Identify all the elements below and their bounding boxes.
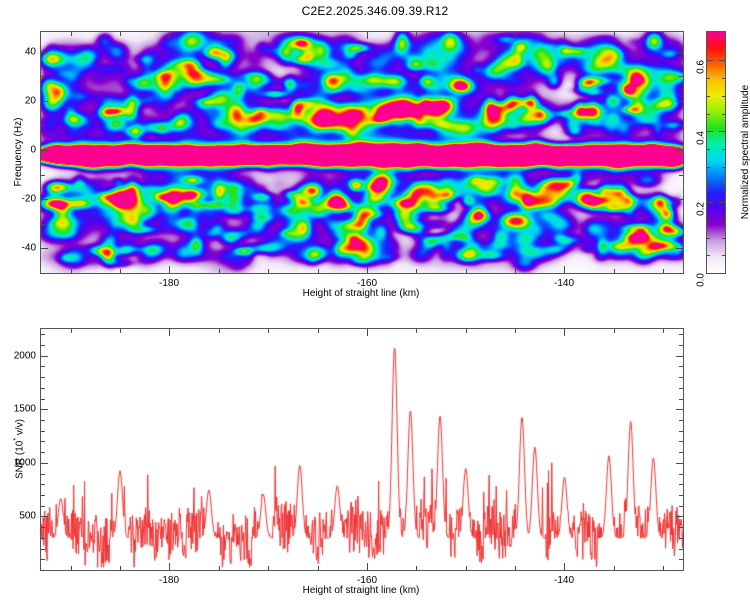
axis-tick bbox=[41, 463, 48, 464]
axis-tick bbox=[564, 563, 565, 570]
axis-tick bbox=[41, 420, 45, 421]
axis-tick bbox=[676, 356, 683, 357]
axis-tick-label: -180 bbox=[159, 575, 179, 586]
axis-tick bbox=[169, 266, 170, 273]
axis-tick bbox=[663, 269, 664, 273]
axis-tick bbox=[679, 334, 683, 335]
axis-tick bbox=[41, 150, 48, 151]
axis-tick bbox=[722, 184, 725, 185]
axis-tick bbox=[268, 269, 269, 273]
axis-tick bbox=[676, 248, 683, 249]
axis-tick bbox=[41, 538, 45, 539]
axis-tick-label: 0 bbox=[30, 145, 36, 156]
axis-tick bbox=[679, 420, 683, 421]
axis-tick-label: -20 bbox=[22, 194, 36, 205]
axis-tick bbox=[707, 96, 710, 97]
axis-tick bbox=[41, 495, 45, 496]
axis-tick-label: 1500 bbox=[14, 404, 36, 415]
axis-tick bbox=[416, 32, 417, 36]
axis-tick bbox=[416, 566, 417, 570]
axis-tick bbox=[564, 329, 565, 336]
axis-tick bbox=[679, 125, 683, 126]
axis-tick bbox=[614, 269, 615, 273]
axis-tick bbox=[679, 76, 683, 77]
snr-xlabel: Height of straight line (km) bbox=[303, 585, 420, 596]
axis-tick bbox=[41, 516, 48, 517]
snr-canvas bbox=[41, 329, 683, 570]
axis-tick bbox=[722, 255, 725, 256]
axis-tick bbox=[71, 566, 72, 570]
axis-tick bbox=[722, 238, 725, 239]
axis-tick bbox=[41, 334, 45, 335]
axis-tick bbox=[120, 32, 121, 36]
axis-tick bbox=[318, 566, 319, 570]
axis-tick bbox=[707, 184, 710, 185]
axis-tick bbox=[367, 32, 368, 39]
axis-tick bbox=[679, 527, 683, 528]
axis-tick bbox=[41, 474, 45, 475]
axis-tick bbox=[120, 329, 121, 333]
axis-tick bbox=[679, 366, 683, 367]
axis-tick bbox=[466, 329, 467, 333]
figure-root: C2E2.2025.346.09.39.R12 -180-160-1404020… bbox=[0, 0, 750, 600]
axis-tick bbox=[722, 78, 725, 79]
axis-tick bbox=[41, 441, 45, 442]
axis-tick bbox=[676, 199, 683, 200]
axis-tick bbox=[268, 32, 269, 36]
axis-tick bbox=[120, 269, 121, 273]
spectrogram-plot-area bbox=[41, 32, 683, 273]
axis-tick bbox=[707, 238, 710, 239]
colorbar-tick-label: 0.4 bbox=[696, 131, 707, 145]
axis-tick bbox=[707, 255, 710, 256]
axis-tick bbox=[679, 495, 683, 496]
snr-plot-area bbox=[41, 329, 683, 570]
axis-tick bbox=[41, 399, 45, 400]
axis-tick bbox=[41, 52, 48, 53]
axis-tick-label: -140 bbox=[554, 575, 574, 586]
axis-tick bbox=[614, 566, 615, 570]
axis-tick bbox=[41, 248, 48, 249]
axis-tick bbox=[169, 32, 170, 39]
axis-tick bbox=[679, 388, 683, 389]
axis-tick bbox=[169, 329, 170, 336]
colorbar-gradient bbox=[707, 32, 725, 273]
axis-tick bbox=[614, 329, 615, 333]
snr-ylabel-tail: v/v) bbox=[14, 419, 25, 438]
axis-tick bbox=[367, 329, 368, 336]
axis-tick bbox=[41, 484, 45, 485]
axis-tick bbox=[515, 269, 516, 273]
axis-tick bbox=[679, 431, 683, 432]
axis-tick bbox=[71, 329, 72, 333]
axis-tick bbox=[41, 409, 48, 410]
colorbar-tick-label: 0.6 bbox=[696, 60, 707, 74]
axis-tick-label: 2000 bbox=[14, 351, 36, 362]
axis-tick bbox=[41, 224, 45, 225]
axis-tick bbox=[41, 506, 45, 507]
axis-tick bbox=[722, 167, 725, 168]
axis-tick bbox=[663, 32, 664, 36]
axis-tick bbox=[679, 538, 683, 539]
axis-tick bbox=[41, 452, 45, 453]
colorbar-tick-label: 0.2 bbox=[696, 202, 707, 216]
axis-tick bbox=[41, 570, 45, 571]
axis-tick bbox=[614, 32, 615, 36]
axis-tick bbox=[219, 269, 220, 273]
spectrogram-xlabel: Height of straight line (km) bbox=[303, 288, 420, 299]
axis-tick bbox=[169, 563, 170, 570]
axis-tick bbox=[679, 474, 683, 475]
axis-tick bbox=[564, 266, 565, 273]
axis-tick bbox=[41, 527, 45, 528]
axis-tick bbox=[719, 60, 725, 61]
axis-tick bbox=[318, 269, 319, 273]
axis-tick bbox=[679, 484, 683, 485]
axis-tick bbox=[41, 431, 45, 432]
axis-tick bbox=[676, 516, 683, 517]
axis-tick bbox=[318, 32, 319, 36]
axis-tick bbox=[41, 101, 48, 102]
axis-tick-label: 40 bbox=[25, 47, 36, 58]
axis-tick bbox=[679, 399, 683, 400]
axis-tick bbox=[679, 224, 683, 225]
axis-tick bbox=[367, 563, 368, 570]
axis-tick bbox=[466, 566, 467, 570]
axis-tick bbox=[318, 329, 319, 333]
axis-tick bbox=[466, 32, 467, 36]
axis-tick-label: -40 bbox=[22, 243, 36, 254]
axis-tick-label: 20 bbox=[25, 96, 36, 107]
axis-tick bbox=[707, 273, 713, 274]
axis-tick bbox=[564, 32, 565, 39]
axis-tick bbox=[722, 43, 725, 44]
axis-tick bbox=[722, 96, 725, 97]
axis-tick bbox=[679, 273, 683, 274]
axis-tick-label: 500 bbox=[19, 511, 36, 522]
axis-tick bbox=[679, 345, 683, 346]
axis-tick bbox=[41, 345, 45, 346]
axis-tick bbox=[707, 60, 713, 61]
axis-tick bbox=[41, 549, 45, 550]
colorbar-label: Normalized spectral amplitude bbox=[740, 84, 750, 219]
axis-tick bbox=[707, 149, 710, 150]
axis-tick bbox=[707, 114, 710, 115]
axis-tick bbox=[515, 566, 516, 570]
axis-tick bbox=[71, 269, 72, 273]
axis-tick bbox=[707, 78, 710, 79]
axis-tick bbox=[679, 452, 683, 453]
axis-tick bbox=[515, 329, 516, 333]
axis-tick bbox=[707, 167, 710, 168]
axis-tick bbox=[679, 559, 683, 560]
axis-tick bbox=[676, 101, 683, 102]
axis-tick bbox=[268, 329, 269, 333]
axis-tick bbox=[466, 269, 467, 273]
axis-tick bbox=[679, 549, 683, 550]
axis-tick bbox=[707, 220, 710, 221]
axis-tick bbox=[663, 566, 664, 570]
axis-tick bbox=[41, 377, 45, 378]
colorbar-tick-label: 0.0 bbox=[696, 273, 707, 287]
axis-tick bbox=[679, 377, 683, 378]
axis-tick bbox=[120, 566, 121, 570]
axis-tick bbox=[219, 566, 220, 570]
axis-tick-label: -140 bbox=[554, 278, 574, 289]
axis-tick bbox=[679, 441, 683, 442]
axis-tick bbox=[663, 329, 664, 333]
axis-tick bbox=[41, 366, 45, 367]
axis-tick bbox=[676, 150, 683, 151]
axis-tick bbox=[367, 266, 368, 273]
axis-tick bbox=[41, 125, 45, 126]
axis-tick bbox=[722, 149, 725, 150]
axis-tick bbox=[679, 570, 683, 571]
axis-tick bbox=[719, 273, 725, 274]
snr-ylabel: SNR (10* v/v) bbox=[13, 419, 25, 479]
figure-title: C2E2.2025.346.09.39.R12 bbox=[0, 4, 750, 18]
axis-tick bbox=[41, 559, 45, 560]
axis-tick bbox=[41, 76, 45, 77]
axis-tick bbox=[41, 273, 45, 274]
axis-tick bbox=[268, 566, 269, 570]
axis-tick bbox=[707, 202, 713, 203]
axis-tick bbox=[219, 329, 220, 333]
axis-tick bbox=[707, 43, 710, 44]
axis-tick bbox=[679, 175, 683, 176]
axis-tick bbox=[416, 329, 417, 333]
snr-ylabel-main: SNR (10 bbox=[14, 440, 25, 478]
axis-tick bbox=[41, 356, 48, 357]
axis-tick bbox=[41, 175, 45, 176]
axis-tick bbox=[515, 32, 516, 36]
axis-tick bbox=[722, 114, 725, 115]
axis-tick-label: -180 bbox=[159, 278, 179, 289]
axis-tick bbox=[679, 506, 683, 507]
spectrogram-canvas bbox=[41, 32, 683, 273]
axis-tick bbox=[676, 409, 683, 410]
axis-tick bbox=[719, 131, 725, 132]
axis-tick bbox=[41, 388, 45, 389]
axis-tick bbox=[676, 52, 683, 53]
axis-tick bbox=[676, 463, 683, 464]
axis-tick bbox=[722, 220, 725, 221]
axis-tick bbox=[219, 32, 220, 36]
axis-tick bbox=[719, 202, 725, 203]
axis-tick bbox=[707, 131, 713, 132]
axis-tick bbox=[41, 199, 48, 200]
spectrogram-ylabel: Frequency (Hz) bbox=[13, 117, 24, 186]
axis-tick bbox=[71, 32, 72, 36]
axis-tick bbox=[416, 269, 417, 273]
